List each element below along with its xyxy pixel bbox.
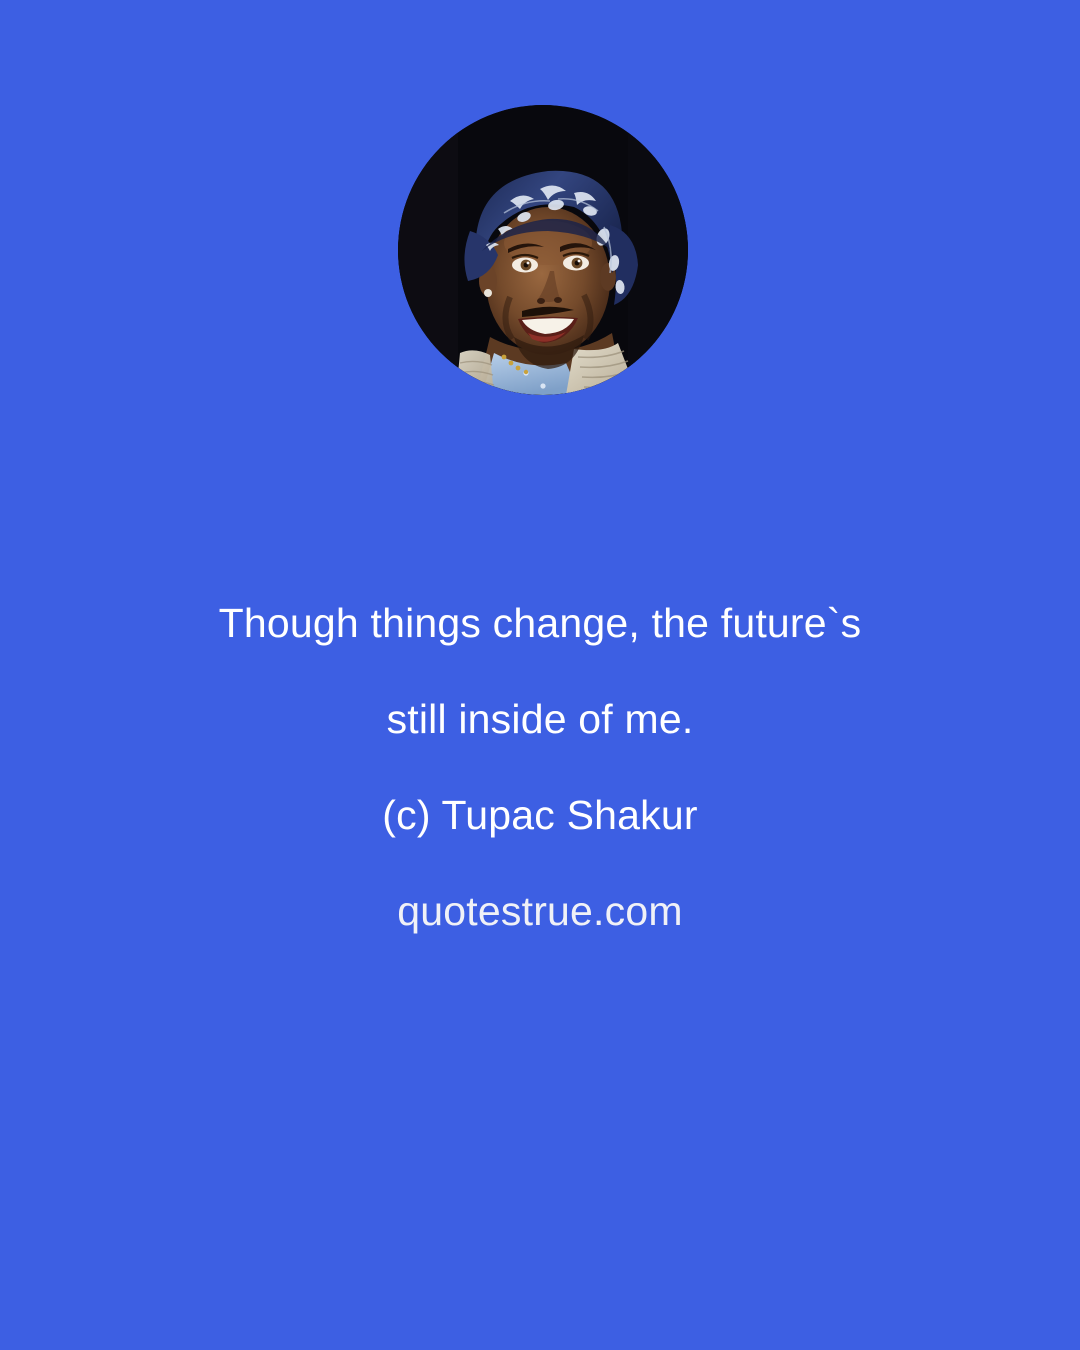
quote-attribution: (c) Tupac Shakur — [0, 767, 1080, 863]
quote-line-1: Though things change, the future`s — [0, 575, 1080, 671]
quote-card: Though things change, the future`s still… — [0, 0, 1080, 1350]
portrait-avatar — [398, 105, 688, 395]
source-website: quotestrue.com — [0, 863, 1080, 959]
quote-text-block: Though things change, the future`s still… — [0, 575, 1080, 959]
quote-line-2: still inside of me. — [0, 671, 1080, 767]
